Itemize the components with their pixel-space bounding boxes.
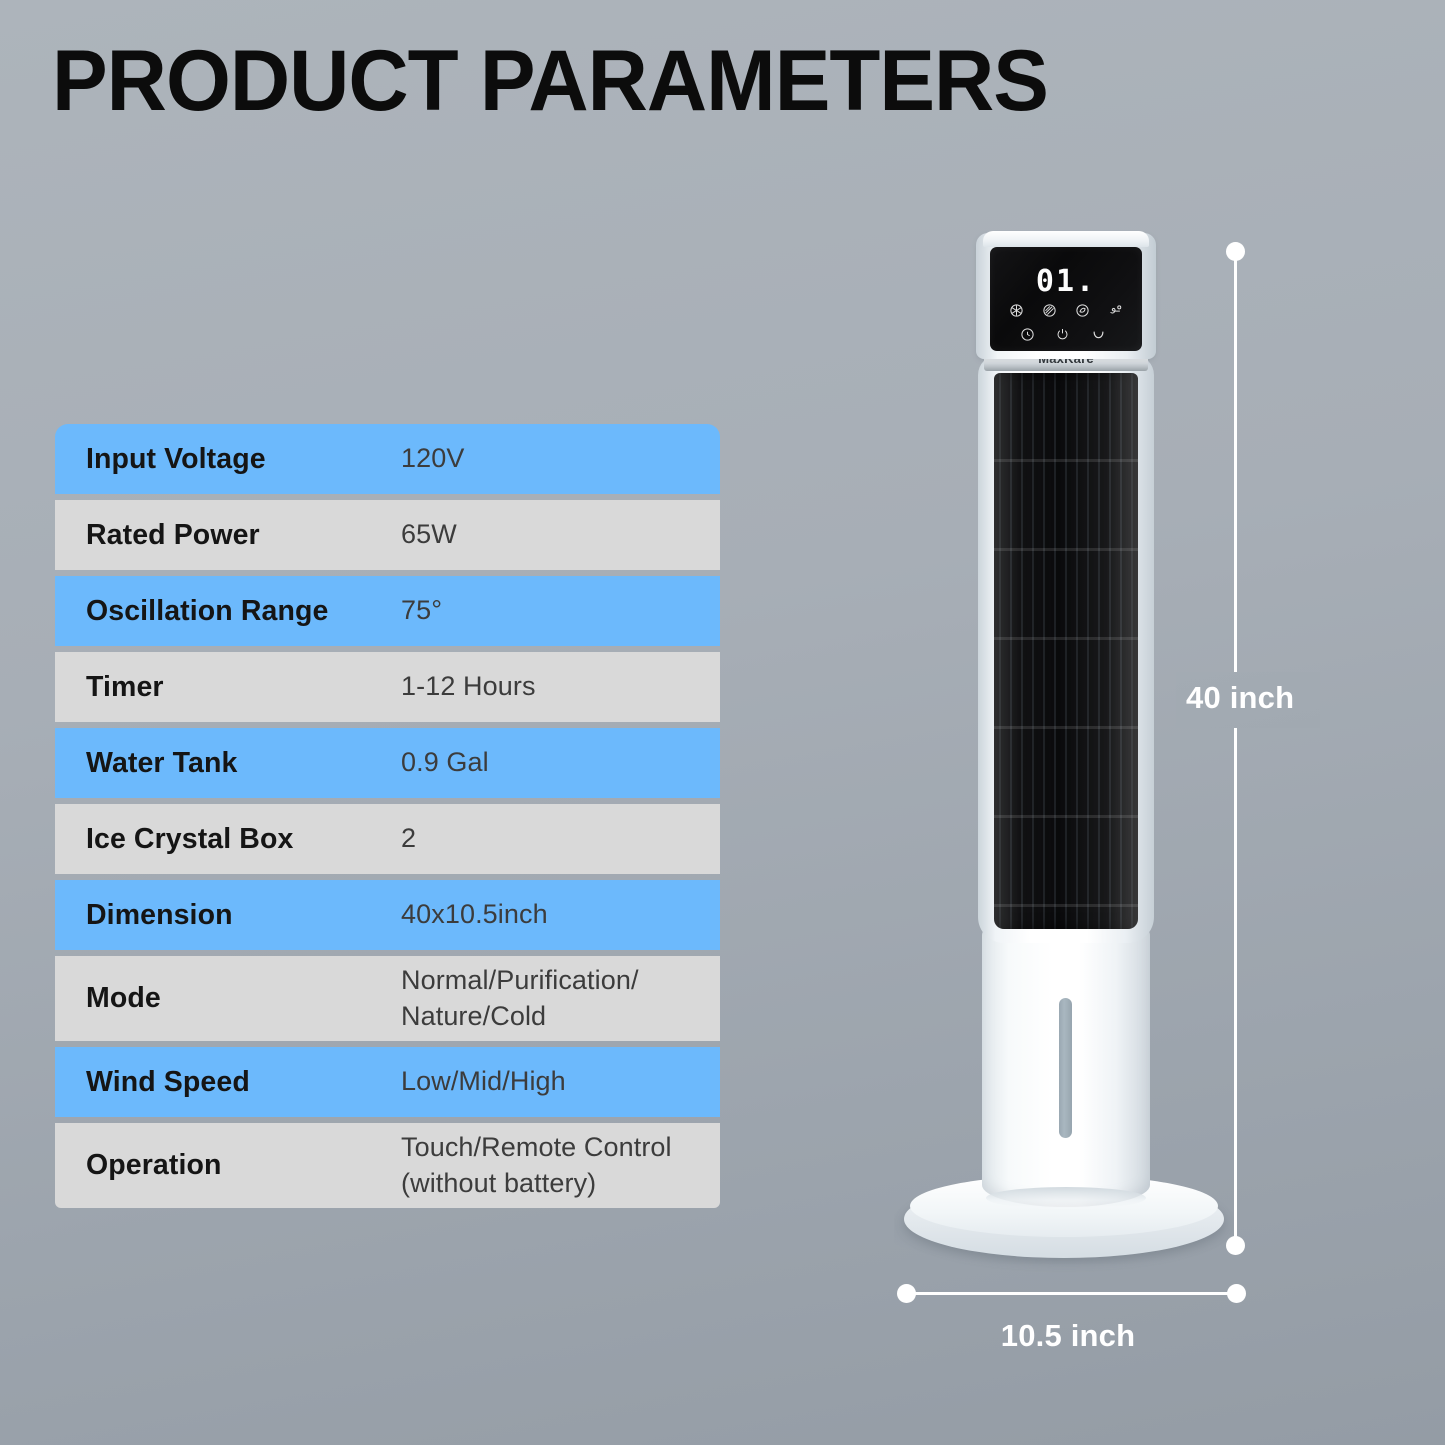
spec-label: Input Voltage bbox=[86, 443, 401, 476]
spec-value: 120V bbox=[401, 441, 464, 477]
height-dimension-dot-bottom bbox=[1226, 1236, 1245, 1255]
spec-table: Input Voltage120VRated Power65WOscillati… bbox=[55, 424, 720, 1208]
height-dimension-dot-top bbox=[1226, 242, 1245, 261]
snowflake-icon[interactable] bbox=[1009, 303, 1024, 318]
width-dimension-dot-right bbox=[1227, 1284, 1246, 1303]
spec-row: Timer1-12 Hours bbox=[55, 652, 720, 722]
wind-speed-icon[interactable] bbox=[1108, 303, 1123, 318]
spec-label: Water Tank bbox=[86, 747, 401, 780]
spec-value: 2 bbox=[401, 821, 416, 857]
width-dimension-line bbox=[906, 1292, 1236, 1295]
spec-label: Timer bbox=[86, 671, 401, 704]
spec-row: Input Voltage120V bbox=[55, 424, 720, 494]
control-panel-row-1 bbox=[1000, 303, 1132, 318]
control-panel-row-2 bbox=[1010, 327, 1116, 342]
spec-label: Operation bbox=[86, 1149, 401, 1182]
top-cap-lip bbox=[983, 231, 1149, 247]
spec-value: 1-12 Hours bbox=[401, 669, 536, 705]
timer-clock-icon[interactable] bbox=[1020, 327, 1035, 342]
spec-row: Ice Crystal Box2 bbox=[55, 804, 720, 874]
spec-value: Low/Mid/High bbox=[401, 1064, 566, 1100]
power-icon[interactable] bbox=[1055, 327, 1070, 342]
spec-row: ModeNormal/Purification/ Nature/Cold bbox=[55, 956, 720, 1041]
air-outlet-grille bbox=[994, 373, 1138, 929]
purification-icon[interactable] bbox=[1042, 303, 1057, 318]
product-image-tower-fan: MaxKare 01. bbox=[880, 225, 1280, 1285]
spec-row: OperationTouch/Remote Control (without b… bbox=[55, 1123, 720, 1208]
spec-label: Rated Power bbox=[86, 519, 401, 552]
spec-row: Wind SpeedLow/Mid/High bbox=[55, 1047, 720, 1117]
height-dimension-label: 40 inch bbox=[1178, 676, 1302, 720]
spec-row: Rated Power65W bbox=[55, 500, 720, 570]
spec-label: Dimension bbox=[86, 899, 401, 932]
spec-label: Wind Speed bbox=[86, 1066, 401, 1099]
spec-value: Touch/Remote Control (without battery) bbox=[401, 1130, 672, 1201]
display-digits: 01. bbox=[990, 264, 1142, 299]
spec-row: Water Tank0.9 Gal bbox=[55, 728, 720, 798]
height-dimension-line bbox=[1234, 252, 1237, 1245]
spec-value: 75° bbox=[401, 593, 442, 629]
spec-value: Normal/Purification/ Nature/Cold bbox=[401, 963, 639, 1034]
spec-row: Oscillation Range75° bbox=[55, 576, 720, 646]
spec-value: 65W bbox=[401, 517, 457, 553]
page-title: PRODUCT PARAMETERS bbox=[52, 38, 1048, 124]
nature-mode-icon[interactable] bbox=[1075, 303, 1090, 318]
grille-gloss bbox=[994, 373, 1138, 929]
spec-label: Oscillation Range bbox=[86, 595, 401, 628]
width-dimension-dot-left bbox=[897, 1284, 916, 1303]
control-panel[interactable]: 01. bbox=[990, 247, 1142, 351]
water-tank-rim bbox=[986, 1187, 1146, 1209]
spec-value: 0.9 Gal bbox=[401, 745, 489, 781]
oscillation-swing-icon[interactable] bbox=[1091, 327, 1106, 342]
width-dimension-label: 10.5 inch bbox=[968, 1318, 1168, 1354]
water-level-window bbox=[1059, 998, 1072, 1138]
spec-row: Dimension40x10.5inch bbox=[55, 880, 720, 950]
spec-label: Ice Crystal Box bbox=[86, 823, 401, 856]
spec-label: Mode bbox=[86, 982, 401, 1015]
spec-value: 40x10.5inch bbox=[401, 897, 548, 933]
